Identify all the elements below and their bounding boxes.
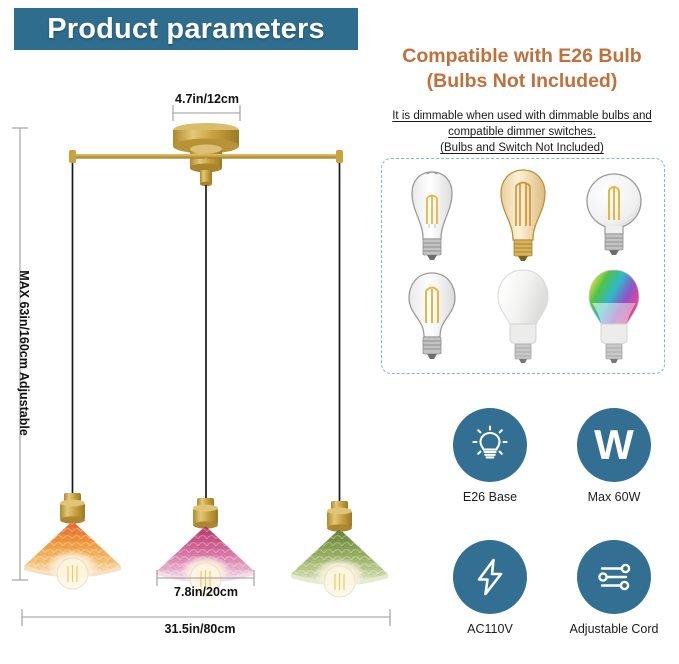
compatibility-heading: Compatible with E26 Bulb (Bulbs Not Incl… <box>372 44 672 94</box>
feature-e26-base: E26 Base <box>432 408 548 504</box>
feature-circle <box>453 408 527 482</box>
feature-label: Max 60W <box>556 490 672 504</box>
lightbulb-icon <box>467 422 513 468</box>
pendant-light-green <box>291 501 388 597</box>
compatibility-heading-line2: (Bulbs Not Included) <box>372 69 672 94</box>
dimension-line-canopy <box>173 105 240 121</box>
feature-circle <box>453 540 527 614</box>
feature-circle <box>577 540 651 614</box>
feature-max-wattage: W Max 60W <box>556 408 672 504</box>
dimension-label-canopy: 4.7in/12cm <box>158 92 256 106</box>
feature-label: Adjustable Cord <box>556 622 672 636</box>
feature-circle: W <box>577 408 651 482</box>
dimmable-note-line1: It is dimmable when used with dimmable b… <box>392 110 652 122</box>
feature-label: E26 Base <box>432 490 548 504</box>
hanging-cords <box>73 163 340 505</box>
dimension-label-max-height: MAX 63in/160cm Adjustable <box>17 243 31 463</box>
feature-badges: E26 Base W Max 60W AC110V <box>432 408 672 654</box>
bulb-g95-globe-clear-filament-icon <box>570 166 658 266</box>
feature-adjustable-cord: Adjustable Cord <box>556 540 672 636</box>
dimension-label-shade: 7.8in/20cm <box>156 585 256 599</box>
product-illustration: 4.7in/12cm 7.8in/20cm 31.5in/80cm MAX 63… <box>0 0 400 659</box>
sliders-icon <box>591 554 637 600</box>
dimmable-note-line3: (Bulbs and Switch Not Included) <box>440 142 604 154</box>
watt-w-icon: W <box>594 424 634 466</box>
bulb-a19-rgb-smart-led-icon <box>570 267 658 367</box>
bulb-a19-frosted-led-icon <box>479 267 567 367</box>
pendant-light-pink <box>157 498 254 594</box>
bulb-a19-clear-filament-icon <box>388 267 476 367</box>
dimension-label-total: 31.5in/80cm <box>120 622 280 636</box>
bulb-st64-amber-vintage-filament-icon <box>479 166 567 266</box>
dimmable-note: It is dimmable when used with dimmable b… <box>368 108 676 156</box>
feature-voltage: AC110V <box>432 540 548 636</box>
pendant-light-orange <box>24 493 121 589</box>
feature-label: AC110V <box>432 622 548 636</box>
bulb-st64-edison-clear-filament-icon <box>388 166 476 266</box>
dimmable-note-line2: compatible dimmer switches. <box>448 126 596 138</box>
compatibility-heading-line1: Compatible with E26 Bulb <box>372 44 672 69</box>
compatible-bulbs-box <box>381 158 665 374</box>
infographic-root: Product parameters Compatible with E26 B… <box>0 0 679 659</box>
lightning-bolt-icon <box>468 555 512 599</box>
